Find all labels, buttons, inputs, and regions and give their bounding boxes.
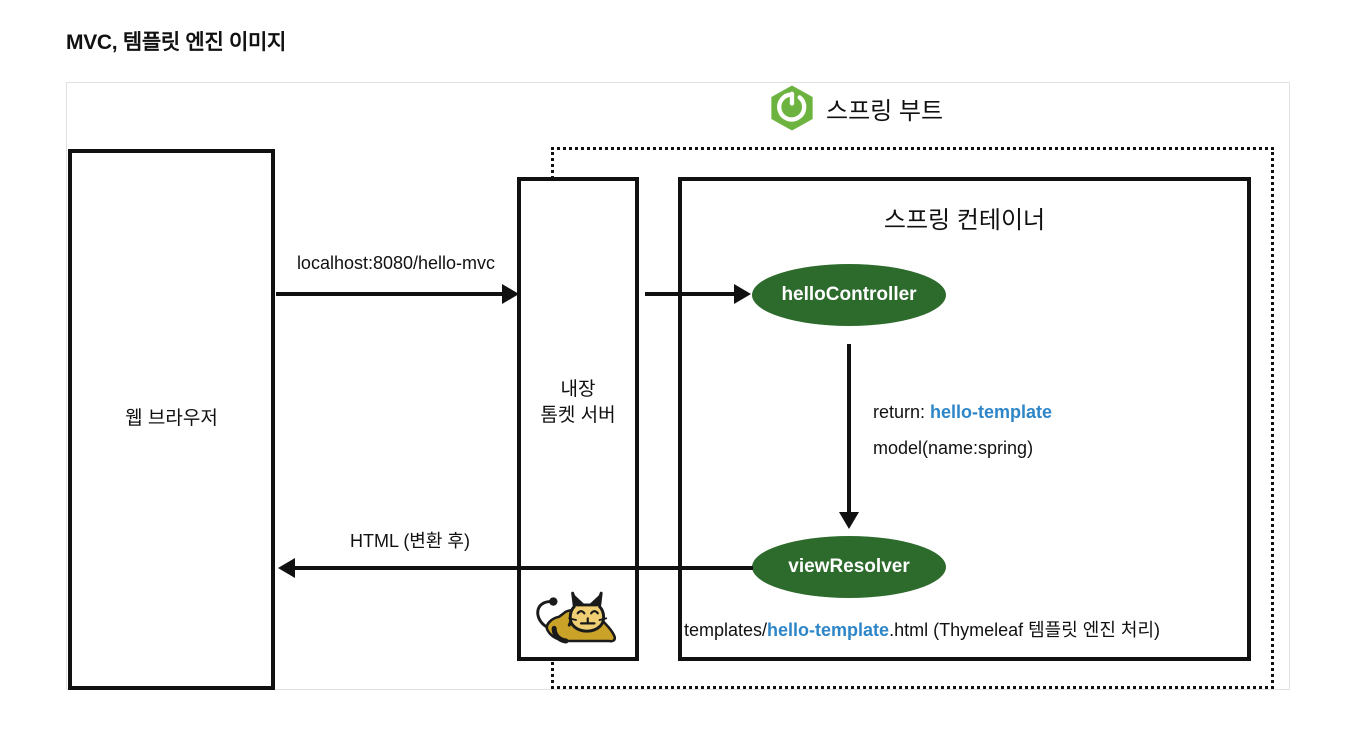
- dispatch-arrow-line: [645, 292, 736, 296]
- annotation-return-value: hello-template: [930, 402, 1052, 422]
- response-arrow-head-icon: [278, 558, 295, 578]
- tomcat-server-label: 내장 톰켓 서버: [517, 377, 639, 428]
- bean-hello-controller: helloController: [752, 264, 946, 326]
- controller-to-resolver-head-icon: [839, 512, 859, 529]
- response-arrow-line: [293, 566, 753, 570]
- request-arrow-head-icon: [502, 284, 519, 304]
- response-html-label: HTML (변환 후): [285, 527, 535, 553]
- request-url-label: localhost:8080/hello-mvc: [276, 253, 516, 274]
- spring-boot-label: 스프링 부트: [826, 91, 943, 126]
- annotation-return-prefix: return:: [873, 402, 930, 422]
- annotation-model: model(name:spring): [873, 438, 1033, 459]
- page-title: MVC, 템플릿 엔진 이미지: [66, 26, 286, 56]
- annotation-template-path: templates/hello-template.html (Thymeleaf…: [684, 616, 1160, 642]
- annotation-return: return: hello-template: [873, 402, 1052, 423]
- annotation-template-value: hello-template: [767, 620, 889, 640]
- spring-container-title: 스프링 컨테이너: [678, 200, 1251, 235]
- annotation-template-suffix: .html (Thymeleaf 템플릿 엔진 처리): [889, 620, 1160, 640]
- web-browser-label: 웹 브라우저: [68, 406, 275, 432]
- spring-boot-leaf-power-icon: [768, 84, 816, 132]
- request-arrow-line: [276, 292, 504, 296]
- apache-tomcat-cat-icon: [524, 573, 628, 657]
- controller-to-resolver-line: [847, 344, 851, 516]
- dispatch-arrow-head-icon: [734, 284, 751, 304]
- bean-view-resolver: viewResolver: [752, 536, 946, 598]
- annotation-template-prefix: templates/: [684, 620, 767, 640]
- spring-boot-header: 스프링 부트: [768, 84, 943, 132]
